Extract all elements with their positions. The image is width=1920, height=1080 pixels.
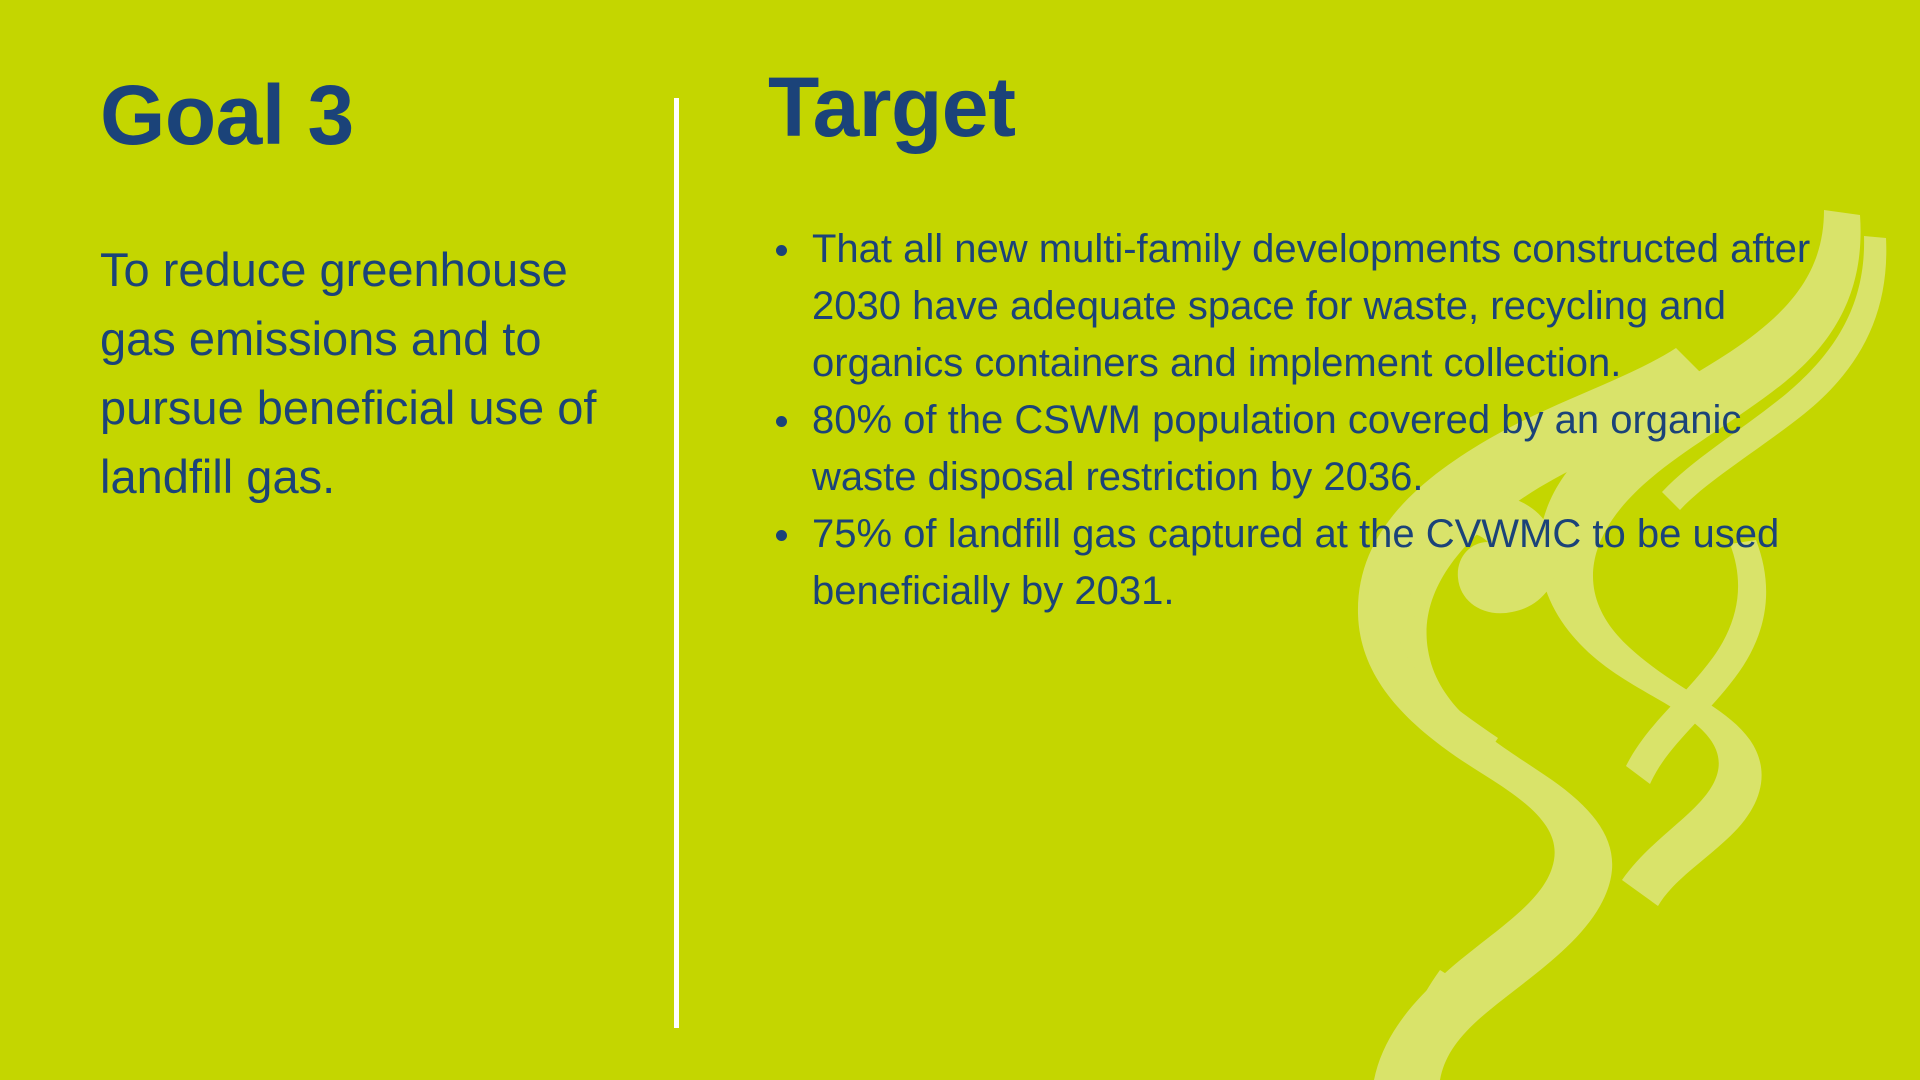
list-item: 80% of the CSWM population covered by an… bbox=[768, 392, 1828, 506]
bullet-dot-icon bbox=[776, 530, 787, 541]
list-item: 75% of landfill gas captured at the CVWM… bbox=[768, 506, 1828, 620]
target-heading: Target bbox=[768, 62, 1828, 153]
goal-column: Goal 3 To reduce greenhouse gas emission… bbox=[100, 70, 620, 511]
bullet-dot-icon bbox=[776, 416, 787, 427]
goal-heading: Goal 3 bbox=[100, 70, 620, 161]
target-bullet-list: That all new multi-family developments c… bbox=[768, 221, 1828, 620]
list-item-text: 75% of landfill gas captured at the CVWM… bbox=[812, 512, 1779, 613]
column-divider bbox=[674, 98, 679, 1028]
list-item-text: That all new multi-family developments c… bbox=[812, 227, 1810, 385]
bullet-dot-icon bbox=[776, 245, 787, 256]
goal-description: To reduce greenhouse gas emissions and t… bbox=[100, 235, 620, 511]
list-item: That all new multi-family developments c… bbox=[768, 221, 1828, 392]
slide-canvas: Goal 3 To reduce greenhouse gas emission… bbox=[0, 0, 1920, 1080]
list-item-text: 80% of the CSWM population covered by an… bbox=[812, 398, 1741, 499]
target-column: Target That all new multi-family develop… bbox=[768, 62, 1828, 620]
